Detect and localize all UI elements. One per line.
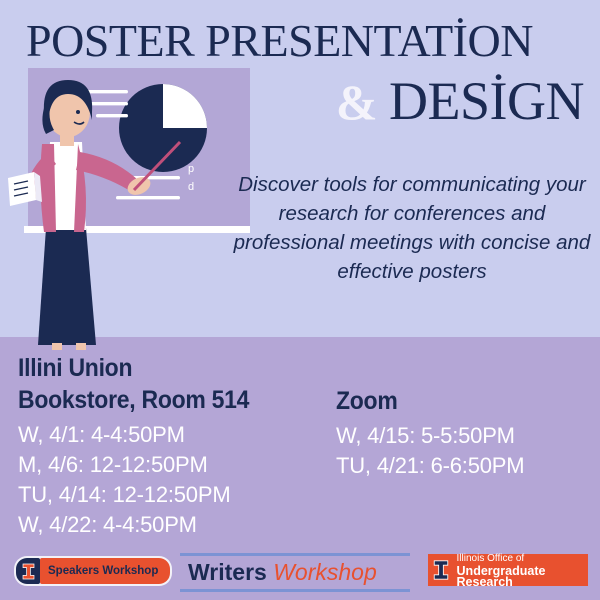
schedule-section: Illini Union Bookstore, Room 514 W, 4/1:…	[0, 352, 600, 552]
figure-eye	[76, 110, 80, 114]
block-i-glyph	[22, 563, 35, 580]
workshop-word: Workshop	[273, 559, 377, 585]
speakers-workshop-pill: Speakers Workshop	[40, 558, 170, 584]
writers-rule-bottom	[180, 589, 410, 592]
speakers-workshop-label: Speakers Workshop	[48, 565, 158, 577]
board-mark-d: d	[188, 181, 194, 193]
writers-workshop-wordmark: Writers Workshop	[180, 556, 410, 589]
venue-name-line-2: Bookstore, Room 514	[18, 384, 312, 416]
schedule-column-zoom: Zoom W, 4/15: 5-5:50PM TU, 4/21: 6-6:50P…	[336, 385, 600, 481]
session-slot: M, 4/6: 12-12:50PM	[18, 450, 338, 480]
undergraduate-research-logo[interactable]: Illinois Office of Undergraduate Researc…	[428, 554, 588, 586]
writers-word: Writers	[188, 559, 273, 585]
poster-canvas: p d	[0, 0, 600, 600]
figure-skirt	[38, 228, 96, 345]
speakers-workshop-logo[interactable]: Speakers Workshop	[14, 556, 172, 586]
description-text: Discover tools for communicating your re…	[228, 170, 596, 286]
unit-line: Undergraduate Research	[457, 566, 588, 588]
illinois-block-i-icon	[16, 558, 40, 584]
session-list-zoom: W, 4/15: 5-5:50PM TU, 4/21: 6-6:50PM	[336, 421, 600, 481]
schedule-column-in-person: Illini Union Bookstore, Room 514 W, 4/1:…	[18, 352, 338, 540]
session-slot: TU, 4/21: 6-6:50PM	[336, 451, 600, 481]
session-slot: W, 4/22: 4-4:50PM	[18, 510, 338, 540]
office-line: Illinois Office of	[457, 553, 588, 564]
session-slot: TU, 4/14: 12-12:50PM	[18, 480, 338, 510]
figure-leg-right	[76, 343, 86, 350]
session-slot: W, 4/15: 5-5:50PM	[336, 421, 600, 451]
venue-name-line-1: Illini Union	[18, 352, 312, 384]
writers-workshop-logo[interactable]: Writers Workshop	[180, 553, 410, 592]
session-list-in-person: W, 4/1: 4-4:50PM M, 4/6: 12-12:50PM TU, …	[18, 420, 338, 540]
venue-name-zoom: Zoom	[336, 385, 579, 417]
undergraduate-research-wordmark: Illinois Office of Undergraduate Researc…	[455, 553, 588, 588]
presenter-illustration: p d	[0, 60, 250, 350]
board-mark-p: p	[188, 163, 194, 175]
illinois-block-i-icon	[428, 559, 455, 581]
footer-logo-bar: Speakers Workshop Writers Workshop Illin…	[0, 552, 600, 596]
block-i-glyph	[433, 559, 449, 581]
figure-leg-left	[52, 343, 62, 350]
session-slot: W, 4/1: 4-4:50PM	[18, 420, 338, 450]
